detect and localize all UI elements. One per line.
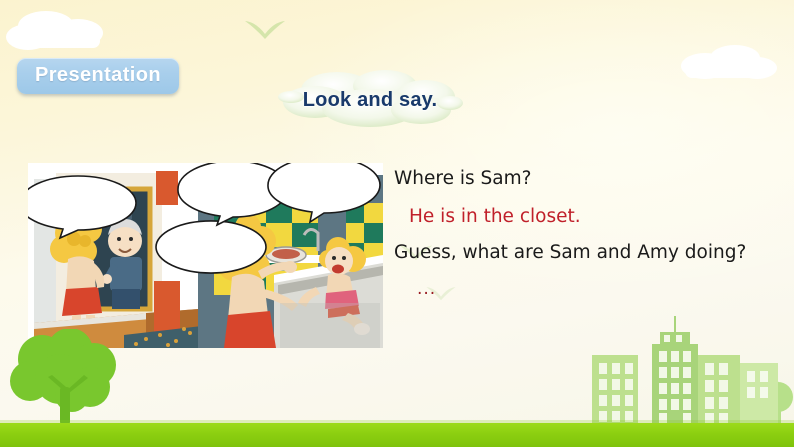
cloud-top-left-icon — [6, 8, 121, 56]
illustration-artwork — [28, 163, 383, 348]
speech-bubble-2 — [156, 221, 266, 273]
cloud-top-right-icon — [675, 42, 780, 86]
dialogue-line-guess: Guess, what are Sam and Amy doing? — [394, 244, 786, 263]
dialogue-line-question: Where is Sam? — [394, 170, 786, 189]
dialogue-line-answer: He is in the closet. — [409, 208, 786, 227]
city-skyline-bottom-right-icon — [564, 313, 794, 425]
dialogue-block: Where is Sam? He is in the closet. Guess… — [394, 166, 786, 298]
ground-strip — [0, 423, 794, 447]
lesson-illustration — [28, 163, 383, 348]
bird-top-center-icon — [243, 18, 287, 40]
dialogue-line-ellipsis: ... — [417, 281, 786, 298]
tab-presentation[interactable]: Presentation — [17, 58, 179, 94]
title-cloud: Look and say. — [275, 66, 465, 132]
title-cloud-label: Look and say. — [275, 89, 465, 112]
slide-canvas: Presentation Look and say. — [0, 0, 794, 447]
